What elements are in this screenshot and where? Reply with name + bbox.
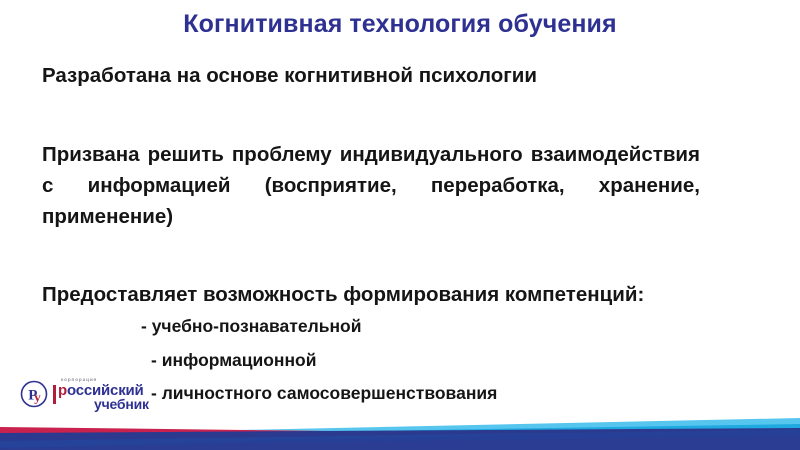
logo-monogram-icon: Р у bbox=[20, 380, 48, 408]
logo-divider bbox=[53, 385, 56, 404]
logo-wordmark-lead: р bbox=[58, 382, 67, 399]
slide-canvas: Когнитивная технология обучения Разработ… bbox=[0, 0, 800, 450]
page-title: Когнитивная технология обучения bbox=[0, 8, 800, 40]
body-paragraph-1: Разработана на основе когнитивной психол… bbox=[42, 60, 742, 91]
body-paragraph-2: Призвана решить проблему индивидуального… bbox=[42, 139, 700, 232]
svg-text:у: у bbox=[34, 390, 41, 405]
list-item-competency-1: - учебно-познавательной bbox=[141, 314, 361, 338]
footer-decoration bbox=[0, 408, 800, 450]
list-item-competency-3: - личностного самосовершенствования bbox=[151, 381, 497, 405]
body-paragraph-3: Предоставляет возможность формирования к… bbox=[42, 279, 742, 310]
list-item-competency-2: - информационной bbox=[151, 348, 317, 372]
